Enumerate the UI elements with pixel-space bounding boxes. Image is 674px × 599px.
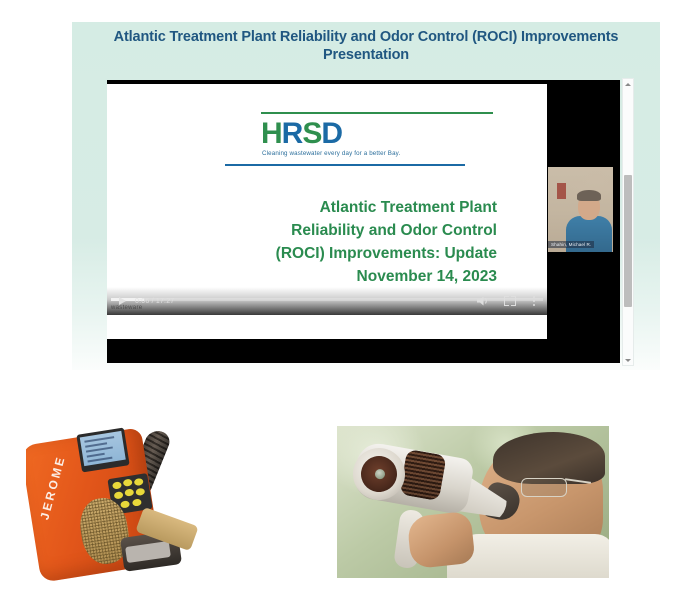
logo-letter-h: H [261,117,282,150]
presenter-hair [577,190,601,201]
presenter-webcam-thumbnail[interactable]: Shahin, Michael R. [548,167,613,252]
page-title: Atlantic Treatment Plant Reliability and… [80,28,652,64]
logo-bottom-rule [225,164,465,166]
jerome-analyzer-photo: JEROME [26,424,206,584]
volume-icon[interactable] [475,294,491,308]
logo-letter-r: R [282,117,303,150]
presentation-panel: Atlantic Treatment Plant Reliability and… [72,22,660,370]
slide-heading: Atlantic Treatment Plant Reliability and… [137,196,497,288]
olfactometer-photo [337,426,609,578]
video-scrollbar[interactable] [622,78,634,366]
player-control-bar[interactable]: wasteware 0:06 / 17:27 [107,287,547,315]
slide-heading-line-2: Reliability and Odor Control [137,219,497,242]
hrsd-wordmark: HRSD [261,118,451,150]
olfactometer-user-hair [493,432,605,484]
slide-heading-line-1: Atlantic Treatment Plant [137,196,497,219]
video-stage[interactable]: HRSD Cleaning wastewater every day for a… [107,80,620,363]
play-icon[interactable] [115,294,129,308]
olfactometer-filter-pin [374,468,385,479]
chevron-down-icon[interactable] [623,355,633,365]
jerome-lcd-screen [80,431,126,466]
video-time-display: 0:06 / 17:27 [135,298,174,305]
kebab-menu-icon[interactable] [529,294,539,308]
logo-letter-s: S [302,117,321,150]
slide-surface: HRSD Cleaning wastewater every day for a… [107,84,547,339]
slide-heading-line-4: November 14, 2023 [137,265,497,288]
olfactometer-dilution-dial [399,449,446,501]
video-player[interactable]: HRSD Cleaning wastewater every day for a… [107,80,620,363]
slide-heading-line-3: (ROCI) Improvements: Update [137,242,497,265]
olfactometer-user-hand [406,511,475,569]
hrsd-tagline: Cleaning wastewater every day for a bett… [262,150,400,157]
jerome-screen-bezel [76,427,129,472]
presenter-name-label: Shahin, Michael R. [548,241,594,248]
olfactometer-user-glasses [521,478,567,497]
chevron-up-icon[interactable] [623,79,633,89]
hrsd-logo: HRSD Cleaning wastewater every day for a… [225,112,493,166]
logo-top-rule [261,112,493,114]
logo-letter-d: D [321,117,342,150]
olfactometer-filter-core [359,454,400,495]
fullscreen-icon[interactable] [503,294,517,308]
player-controls-row: 0:06 / 17:27 [107,291,547,311]
scrollbar-thumb[interactable] [624,175,632,307]
presenter-wall-art [557,183,566,199]
